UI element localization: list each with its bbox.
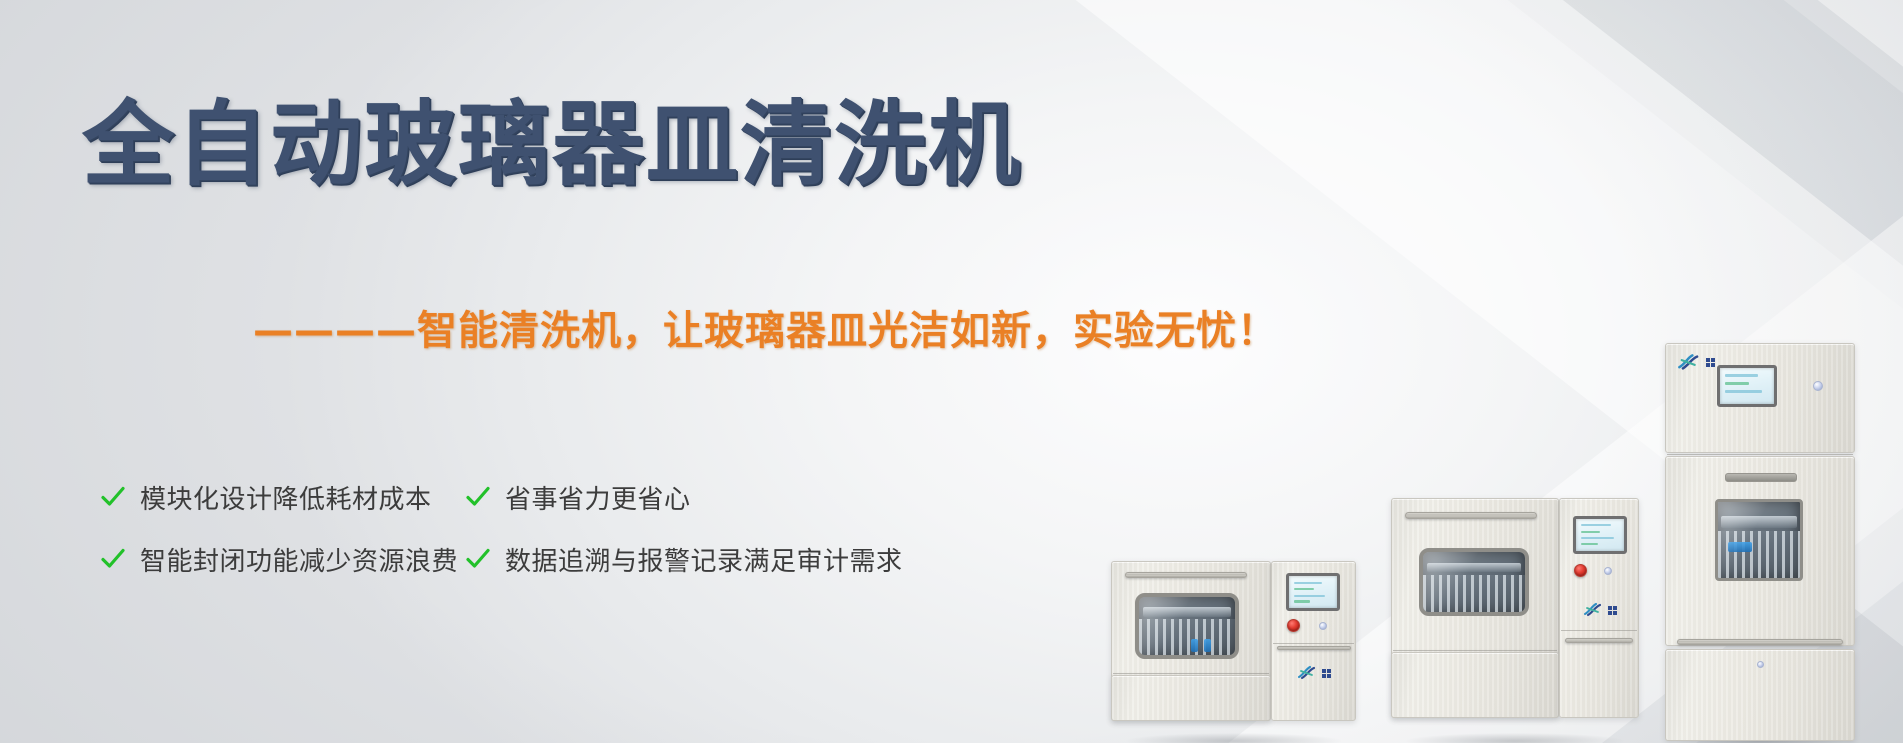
chamber-viewing-window xyxy=(1419,548,1529,616)
feature-label: 智能封闭功能减少资源浪费 xyxy=(140,541,458,578)
screen-line xyxy=(1294,600,1310,602)
power-indicator-light[interactable] xyxy=(1604,567,1612,575)
logo-squares xyxy=(1706,358,1715,367)
power-indicator-light[interactable] xyxy=(1319,622,1327,630)
screen-line xyxy=(1725,390,1762,393)
list-item: 模块化设计降低耗材成本 xyxy=(100,479,465,516)
list-item: 省事省力更省心 xyxy=(465,479,903,516)
caster-wheel xyxy=(1609,722,1626,743)
caster-wheel xyxy=(1235,722,1252,743)
check-icon xyxy=(100,546,126,572)
brand-h-logo xyxy=(1677,353,1715,372)
product-tall-column-washer xyxy=(1665,343,1855,743)
emergency-stop-button[interactable] xyxy=(1574,564,1587,577)
screen-line xyxy=(1725,374,1757,377)
control-touchscreen[interactable] xyxy=(1286,573,1340,611)
page-title: 全自动玻璃器皿清洗机 xyxy=(82,96,1022,194)
hero-banner: 全自动玻璃器皿清洗机 ————智能清洗机，让玻璃器皿光洁如新，实验无忧！ 模块化… xyxy=(0,0,1903,743)
logo-mark xyxy=(1583,602,1605,618)
feature-label: 模块化设计降低耗材成本 xyxy=(140,479,432,516)
door-handle xyxy=(1677,639,1843,645)
panel-seam xyxy=(1667,454,1853,455)
banner-text-column: 全自动玻璃器皿清洗机 ————智能清洗机，让玻璃器皿光洁如新，实验无忧！ 模块化… xyxy=(0,0,1120,743)
service-door-handle xyxy=(1277,646,1351,650)
logo-squares xyxy=(1322,669,1331,678)
list-item: 智能封闭功能减少资源浪费 xyxy=(100,541,465,578)
check-icon xyxy=(465,484,491,510)
power-indicator-light[interactable] xyxy=(1813,381,1823,391)
product-shadow xyxy=(1406,733,1624,743)
screen-line xyxy=(1294,588,1314,590)
feature-label: 数据追溯与报警记录满足审计需求 xyxy=(505,541,903,578)
logo-mark xyxy=(1677,353,1703,372)
lower-service-panel xyxy=(1391,652,1559,718)
screen-line xyxy=(1581,537,1615,539)
screen-line xyxy=(1294,595,1326,597)
panel-texture xyxy=(1112,676,1270,720)
chamber-viewing-window xyxy=(1135,593,1239,659)
brand-h-logo xyxy=(1583,602,1617,618)
panel-seam xyxy=(1393,650,1557,651)
caster-wheel xyxy=(1405,722,1422,743)
brand-h-logo xyxy=(1297,665,1331,681)
logo-mark xyxy=(1297,665,1319,681)
product-image-group xyxy=(1103,0,1903,743)
caster-wheel xyxy=(1679,722,1696,743)
panel-seam xyxy=(1113,673,1269,674)
feature-list: 模块化设计降低耗材成本 省事省力更省心 智能封闭功能减少资源浪费 xyxy=(100,466,903,590)
door-handle-slot xyxy=(1725,473,1797,482)
panel-seam xyxy=(1561,630,1637,631)
caster-wheel xyxy=(1823,722,1840,743)
emergency-stop-button[interactable] xyxy=(1287,619,1300,632)
panel-seam xyxy=(1273,643,1354,644)
lower-service-panel xyxy=(1111,675,1271,721)
chamber-viewing-window xyxy=(1715,499,1803,581)
glass-reflection xyxy=(1139,597,1235,655)
caster-wheel xyxy=(1523,722,1540,743)
door-handle xyxy=(1125,572,1247,578)
door-handle xyxy=(1405,512,1537,519)
panel-texture xyxy=(1392,653,1558,717)
list-item: 数据追溯与报警记录满足审计需求 xyxy=(465,541,903,578)
glass-reflection xyxy=(1423,552,1525,612)
service-door-handle xyxy=(1565,638,1633,643)
check-icon xyxy=(100,484,126,510)
screen-line xyxy=(1294,582,1322,584)
control-touchscreen[interactable] xyxy=(1573,516,1627,554)
latch-point xyxy=(1757,661,1764,668)
screen-line xyxy=(1581,543,1598,545)
caster-wheel xyxy=(1127,722,1144,743)
product-undercounter-washer xyxy=(1111,561,1356,743)
screen-line xyxy=(1581,524,1611,526)
control-touchscreen[interactable] xyxy=(1717,365,1777,407)
glass-reflection xyxy=(1718,502,1800,578)
logo-squares xyxy=(1608,606,1617,615)
feature-label: 省事省力更省心 xyxy=(505,479,691,516)
check-icon xyxy=(465,546,491,572)
screen-line xyxy=(1581,531,1600,533)
product-shadow xyxy=(1126,733,1342,743)
caster-wheel xyxy=(1327,722,1344,743)
screen-line xyxy=(1725,382,1749,385)
product-freestanding-washer xyxy=(1391,498,1639,743)
